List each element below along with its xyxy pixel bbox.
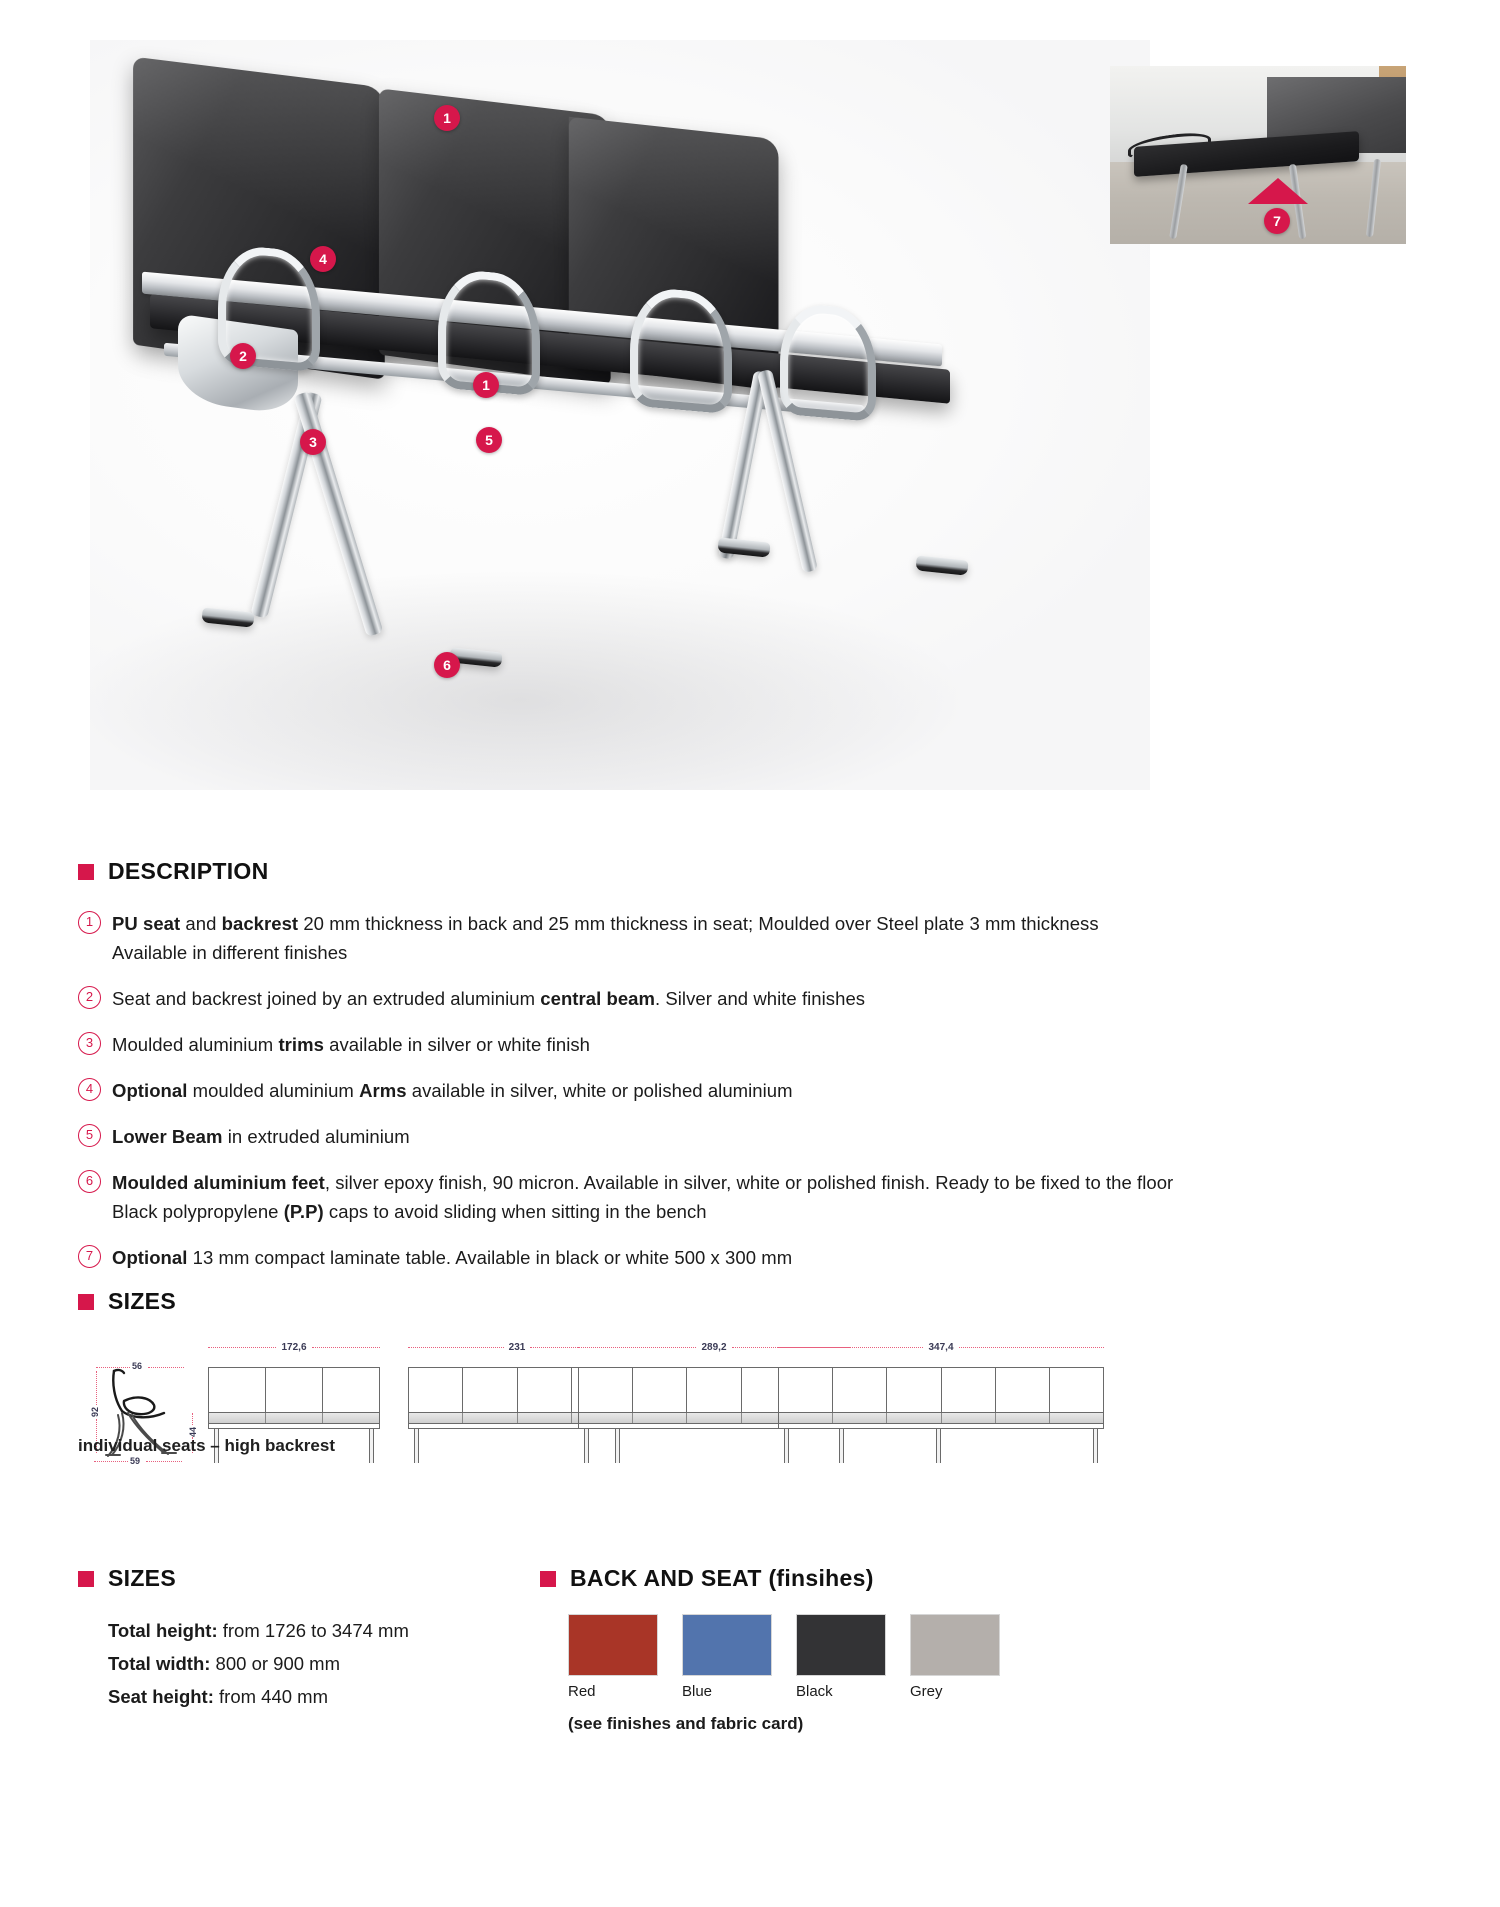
swatch-black[interactable]: Black <box>796 1614 886 1700</box>
description-list: 1 PU seat and backrest 20 mm thickness i… <box>78 909 1408 1272</box>
bench-dim-2-value: 231 <box>504 1342 531 1353</box>
swatch-chip-grey[interactable] <box>910 1614 1000 1676</box>
bench-4-seat-cell <box>996 1413 1050 1423</box>
swatch-label-blue: Blue <box>682 1683 772 1700</box>
bench-4-back-cell <box>996 1368 1050 1412</box>
finishes-heading: BACK AND SEAT (finsihes) <box>540 1565 1140 1592</box>
description-item: 6 Moulded aluminium feet, silver epoxy f… <box>78 1168 1408 1226</box>
description-item-text: Seat and backrest joined by an extruded … <box>112 984 865 1013</box>
bench-4-seat-cell <box>942 1413 996 1423</box>
size-line-value: from 1726 to 3474 mm <box>218 1620 409 1641</box>
size-line-label: Total width: <box>108 1653 210 1674</box>
drawings-caption: individual seats – high backrest <box>78 1436 335 1456</box>
description-item: 4 Optional moulded aluminium Arms availa… <box>78 1076 1408 1105</box>
description-item-text: Moulded aluminium feet, silver epoxy fin… <box>112 1168 1173 1226</box>
description-item-text: Optional moulded aluminium Arms availabl… <box>112 1076 793 1105</box>
description-item: 5 Lower Beam in extruded aluminium <box>78 1122 1408 1151</box>
heading-square-icon <box>78 1294 94 1310</box>
swatch-red[interactable]: Red <box>568 1614 658 1700</box>
up-arrow-icon <box>1248 178 1308 204</box>
description-item-number: 6 <box>78 1170 101 1193</box>
size-line: Total width: 800 or 900 mm <box>108 1647 548 1680</box>
callout-badge-7: 7 <box>1264 208 1290 234</box>
size-line: Total height: from 1726 to 3474 mm <box>108 1614 548 1647</box>
bench-3-leg <box>584 1429 589 1463</box>
bench-4-back-cell <box>833 1368 887 1412</box>
bench-3-back-cell <box>633 1368 687 1412</box>
sizes-text-section: SIZES Total height: from 1726 to 3474 mm… <box>78 1565 548 1713</box>
bench-front-view-4 <box>778 1367 1104 1463</box>
bench-2-leg <box>414 1429 419 1463</box>
bench-2-back-cell <box>463 1368 517 1412</box>
description-item-text: Optional 13 mm compact laminate table. A… <box>112 1243 792 1272</box>
description-heading-text: DESCRIPTION <box>108 858 268 885</box>
bench-4-seat-cell <box>779 1413 833 1423</box>
description-item-text: Lower Beam in extruded aluminium <box>112 1122 410 1151</box>
sizes-drawings-heading-text: SIZES <box>108 1288 176 1315</box>
bench-2-back-cell <box>409 1368 463 1412</box>
swatch-blue[interactable]: Blue <box>682 1614 772 1700</box>
bench-dim-3-value: 289,2 <box>696 1342 731 1353</box>
callout-badge-4: 4 <box>310 246 336 272</box>
sizes-drawings-heading: SIZES <box>78 1288 1278 1315</box>
size-line-value: 800 or 900 mm <box>210 1653 340 1674</box>
size-line: Seat height: from 440 mm <box>108 1680 548 1713</box>
swatch-label-grey: Grey <box>910 1683 1000 1700</box>
bench-dim-1: 172,6 <box>208 1341 380 1353</box>
bench-dim-4-value: 347,4 <box>923 1342 958 1353</box>
finishes-heading-main: BACK AND SEAT <box>570 1565 762 1591</box>
bench-3-seat-cell <box>579 1413 633 1423</box>
bench-4-back-cell <box>942 1368 996 1412</box>
side-view-bottom-dim: 59 <box>130 1456 140 1466</box>
description-item-number: 2 <box>78 986 101 1009</box>
swatch-grey[interactable]: Grey <box>910 1614 1000 1700</box>
bench-4-back-cell <box>779 1368 833 1412</box>
bench-2-seat-cell <box>518 1413 572 1423</box>
description-item-text: PU seat and backrest 20 mm thickness in … <box>112 909 1099 967</box>
callout-badge-6: 6 <box>434 652 460 678</box>
callout-badge-1b: 1 <box>473 372 499 398</box>
bench-dim-4: 347,4 <box>778 1341 1104 1353</box>
swatch-chip-red[interactable] <box>568 1614 658 1676</box>
bench-1-seats <box>208 1413 380 1424</box>
bench-4-back-cell <box>887 1368 941 1412</box>
bench-1-leg <box>369 1429 374 1463</box>
description-item: 7 Optional 13 mm compact laminate table.… <box>78 1243 1408 1272</box>
bench-4-legs <box>778 1429 1104 1463</box>
sizes-lines: Total height: from 1726 to 3474 mm Total… <box>108 1614 548 1713</box>
bench-3-seat-cell <box>633 1413 687 1423</box>
description-item-number: 5 <box>78 1124 101 1147</box>
bench-1-back-cell <box>209 1368 266 1412</box>
finishes-section: BACK AND SEAT (finsihes) Red Blue Black … <box>540 1565 1140 1734</box>
bench-4-seat-cell <box>887 1413 941 1423</box>
bench-4-leg <box>1093 1429 1098 1463</box>
bench-1-backs <box>208 1367 380 1413</box>
bench-4-seat-cell <box>1050 1413 1103 1423</box>
description-item-number: 4 <box>78 1078 101 1101</box>
table-detail-image: 7 <box>1110 66 1406 244</box>
sizes-drawings-section: SIZES 56 92 <box>78 1288 1278 1461</box>
bench-4-backs <box>778 1367 1104 1413</box>
swatch-label-black: Black <box>796 1683 886 1700</box>
size-line-value: from 440 mm <box>214 1686 328 1707</box>
callout-badge-1: 1 <box>434 105 460 131</box>
finishes-heading-sub: (finsihes) <box>768 1565 873 1591</box>
bench-4-leg <box>784 1429 789 1463</box>
bench-3-back-cell <box>579 1368 633 1412</box>
description-item-number: 1 <box>78 911 101 934</box>
heading-square-icon <box>78 864 94 880</box>
swatch-chip-blue[interactable] <box>682 1614 772 1676</box>
description-item-text: Moulded aluminium trims available in sil… <box>112 1030 590 1059</box>
bench-3-back-cell <box>687 1368 741 1412</box>
description-heading: DESCRIPTION <box>78 858 1408 885</box>
callout-badge-2: 2 <box>230 343 256 369</box>
swatch-chip-black[interactable] <box>796 1614 886 1676</box>
swatch-label-red: Red <box>568 1683 658 1700</box>
bench-2-seat-cell <box>409 1413 463 1423</box>
bench-4-back-cell <box>1050 1368 1103 1412</box>
finishes-heading-text: BACK AND SEAT (finsihes) <box>570 1565 874 1592</box>
callout-badge-3: 3 <box>300 429 326 455</box>
swatch-row: Red Blue Black Grey <box>568 1614 1140 1700</box>
size-line-label: Seat height: <box>108 1686 214 1707</box>
bench-dim-1-value: 172,6 <box>276 1342 311 1353</box>
size-line-label: Total height: <box>108 1620 218 1641</box>
callout-badge-5: 5 <box>476 427 502 453</box>
product-hero-image: 1 4 2 1 3 5 6 <box>90 40 1150 790</box>
description-item-number: 3 <box>78 1032 101 1055</box>
sizes-text-heading: SIZES <box>78 1565 548 1592</box>
bench-1-back-cell <box>266 1368 323 1412</box>
bench-4-seats <box>778 1413 1104 1424</box>
description-item: 3 Moulded aluminium trims available in s… <box>78 1030 1408 1059</box>
bench-1-seat-cell <box>209 1413 266 1423</box>
bench-1-back-cell <box>323 1368 379 1412</box>
description-item: 2 Seat and backrest joined by an extrude… <box>78 984 1408 1013</box>
bench-4-leg <box>936 1429 941 1463</box>
description-item: 1 PU seat and backrest 20 mm thickness i… <box>78 909 1408 967</box>
bench-3-seat-cell <box>687 1413 741 1423</box>
heading-square-icon <box>78 1571 94 1587</box>
description-item-number: 7 <box>78 1245 101 1268</box>
description-section: DESCRIPTION 1 PU seat and backrest 20 mm… <box>78 858 1408 1289</box>
bench-1-seat-cell <box>266 1413 323 1423</box>
heading-square-icon <box>540 1571 556 1587</box>
bench-1-seat-cell <box>323 1413 379 1423</box>
sizes-text-heading-text: SIZES <box>108 1565 176 1592</box>
finishes-note: (see finishes and fabric card) <box>568 1714 1140 1734</box>
bench-4-seat-cell <box>833 1413 887 1423</box>
bench-2-back-cell <box>518 1368 572 1412</box>
bench-2-seat-cell <box>463 1413 517 1423</box>
